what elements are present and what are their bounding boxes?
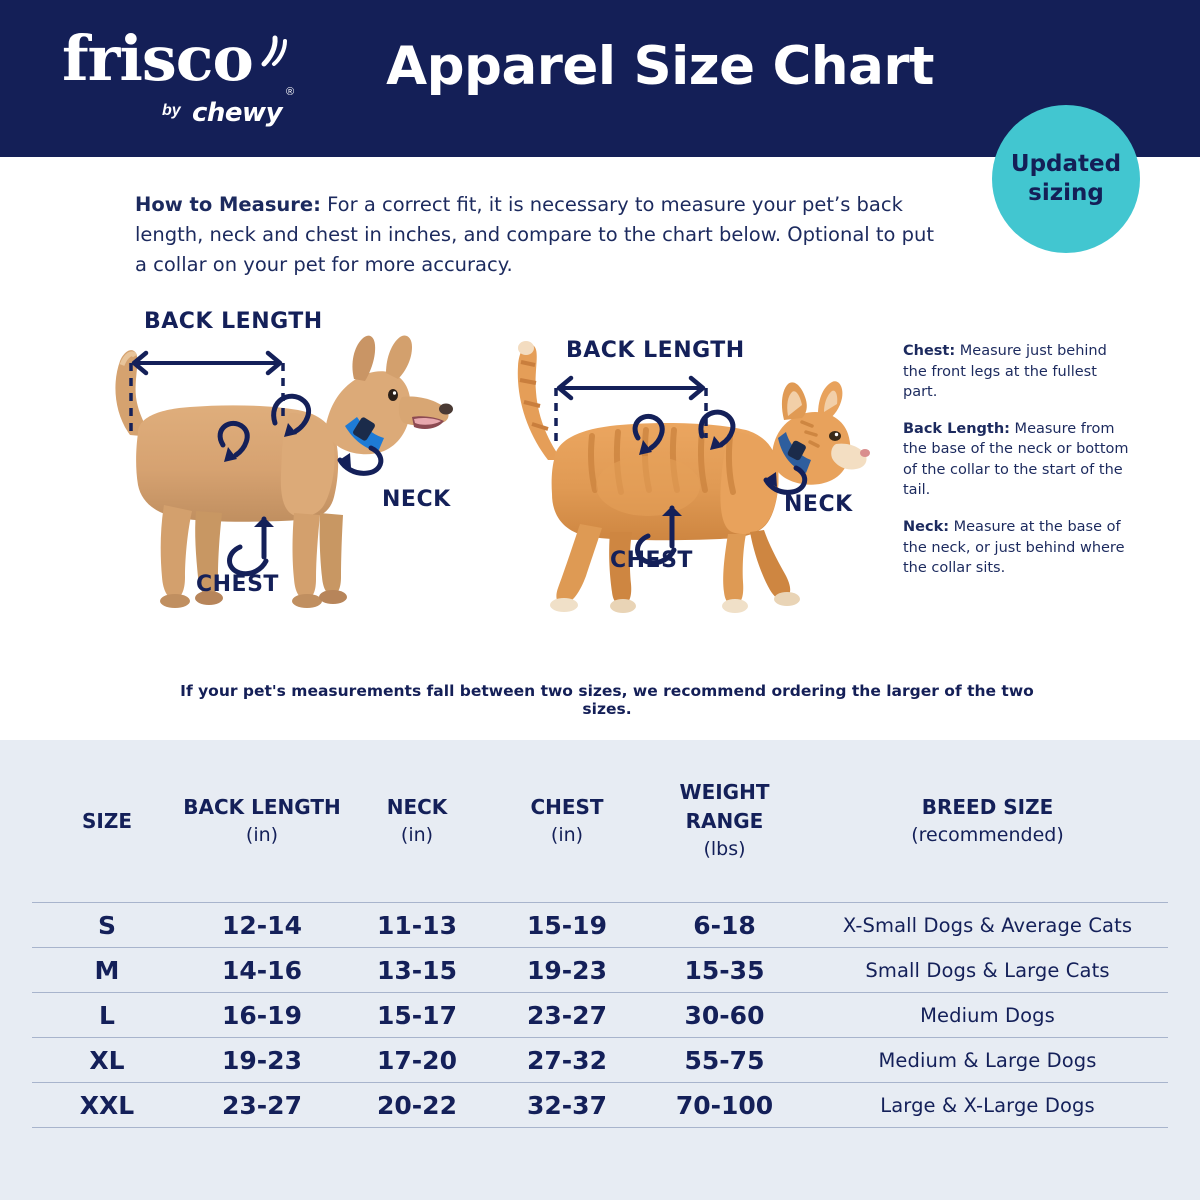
col-header-neck-name: NECK: [342, 793, 492, 822]
col-header-back-length-unit: (in): [182, 822, 342, 850]
definition-chest: Chest: Measure just behind the front leg…: [903, 341, 1135, 403]
cell-neck: 11-13: [342, 903, 492, 948]
table-row: L 16-19 15-17 23-27 30-60 Medium Dogs: [32, 993, 1168, 1038]
dog-chest-label: CHEST: [196, 572, 279, 597]
cat-chest-label: CHEST: [610, 548, 693, 573]
logo-by-text: by: [162, 102, 181, 120]
cell-chest: 23-27: [492, 993, 642, 1038]
badge-line-1: Updated: [1011, 150, 1121, 179]
cell-back-length: 19-23: [182, 1038, 342, 1083]
dog-neck-label: NECK: [382, 487, 451, 512]
updated-sizing-badge: Updated sizing: [992, 105, 1140, 253]
badge-line-2: sizing: [1028, 179, 1104, 208]
dog-illustration: BACK LENGTH NECK CHEST: [68, 305, 468, 625]
size-table: SIZE BACK LENGTH (in) NECK (in) CHEST (i…: [32, 740, 1168, 1136]
cell-breed: X-Small Dogs & Average Cats: [807, 903, 1168, 948]
table-row: XXL 23-27 20-22 32-37 70-100 Large & X-L…: [32, 1083, 1168, 1128]
definition-back-length: Back Length: Measure from the base of th…: [903, 419, 1135, 501]
cat-neck-label: NECK: [784, 492, 853, 517]
cell-chest: 15-19: [492, 903, 642, 948]
cell-breed: Medium Dogs: [807, 993, 1168, 1038]
measurement-definitions: Chest: Measure just behind the front leg…: [903, 341, 1135, 595]
cell-back-length: 12-14: [182, 903, 342, 948]
cell-size: M: [32, 948, 182, 993]
cell-back-length: 16-19: [182, 993, 342, 1038]
cell-breed: Medium & Large Dogs: [807, 1038, 1168, 1083]
chewy-wordmark: chewy: [192, 98, 282, 128]
col-header-breed-size-unit: (recommended): [807, 822, 1168, 850]
cell-neck: 13-15: [342, 948, 492, 993]
cell-weight: 15-35: [642, 948, 807, 993]
col-header-weight-range: WEIGHT RANGE (lbs): [642, 740, 807, 903]
col-header-chest-name: CHEST: [492, 793, 642, 822]
cell-size: XL: [32, 1038, 182, 1083]
cell-size: L: [32, 993, 182, 1038]
col-header-breed-size: BREED SIZE (recommended): [807, 740, 1168, 903]
col-header-chest-unit: (in): [492, 822, 642, 850]
cell-weight: 55-75: [642, 1038, 807, 1083]
cell-back-length: 14-16: [182, 948, 342, 993]
definition-back-length-term: Back Length:: [903, 421, 1010, 437]
table-row: S 12-14 11-13 15-19 6-18 X-Small Dogs & …: [32, 903, 1168, 948]
cell-size: S: [32, 903, 182, 948]
table-bottom-rule-cell: [32, 1128, 1168, 1137]
cat-illustration: BACK LENGTH NECK CHEST: [488, 310, 888, 620]
definition-chest-term: Chest:: [903, 343, 955, 359]
col-header-size-name: SIZE: [32, 807, 182, 836]
size-chart-page: frisco ® by chewy Apparel Size Chart Upd…: [0, 0, 1200, 1200]
dog-back-length-label: BACK LENGTH: [144, 309, 323, 334]
col-header-weight-range-name: WEIGHT RANGE: [642, 778, 807, 836]
cell-weight: 30-60: [642, 993, 807, 1038]
size-table-section: SIZE BACK LENGTH (in) NECK (in) CHEST (i…: [0, 740, 1200, 1200]
col-header-breed-size-name: BREED SIZE: [807, 793, 1168, 822]
how-to-measure-paragraph: How to Measure: For a correct fit, it is…: [135, 190, 950, 281]
size-table-body: S 12-14 11-13 15-19 6-18 X-Small Dogs & …: [32, 903, 1168, 1137]
table-row: XL 19-23 17-20 27-32 55-75 Medium & Larg…: [32, 1038, 1168, 1083]
cell-chest: 27-32: [492, 1038, 642, 1083]
definition-neck-term: Neck:: [903, 519, 949, 535]
cell-size: XXL: [32, 1083, 182, 1128]
table-header-row: SIZE BACK LENGTH (in) NECK (in) CHEST (i…: [32, 740, 1168, 903]
col-header-neck: NECK (in): [342, 740, 492, 903]
size-table-head: SIZE BACK LENGTH (in) NECK (in) CHEST (i…: [32, 740, 1168, 903]
page-title: Apparel Size Chart: [0, 36, 1200, 97]
cell-weight: 70-100: [642, 1083, 807, 1128]
col-header-back-length: BACK LENGTH (in): [182, 740, 342, 903]
cell-neck: 20-22: [342, 1083, 492, 1128]
definition-neck: Neck: Measure at the base of the neck, o…: [903, 517, 1135, 579]
cell-neck: 15-17: [342, 993, 492, 1038]
col-header-back-length-name: BACK LENGTH: [182, 793, 342, 822]
cell-neck: 17-20: [342, 1038, 492, 1083]
cell-breed: Small Dogs & Large Cats: [807, 948, 1168, 993]
cell-breed: Large & X-Large Dogs: [807, 1083, 1168, 1128]
col-header-size: SIZE: [32, 740, 182, 903]
cell-chest: 32-37: [492, 1083, 642, 1128]
between-sizes-note: If your pet's measurements fall between …: [177, 682, 1037, 718]
col-header-neck-unit: (in): [342, 822, 492, 850]
cell-back-length: 23-27: [182, 1083, 342, 1128]
how-to-measure-label: How to Measure:: [135, 193, 321, 216]
table-bottom-rule: [32, 1128, 1168, 1137]
cell-chest: 19-23: [492, 948, 642, 993]
table-row: M 14-16 13-15 19-23 15-35 Small Dogs & L…: [32, 948, 1168, 993]
col-header-chest: CHEST (in): [492, 740, 642, 903]
col-header-weight-range-unit: (lbs): [642, 836, 807, 864]
cat-back-length-label: BACK LENGTH: [566, 338, 745, 363]
cell-weight: 6-18: [642, 903, 807, 948]
